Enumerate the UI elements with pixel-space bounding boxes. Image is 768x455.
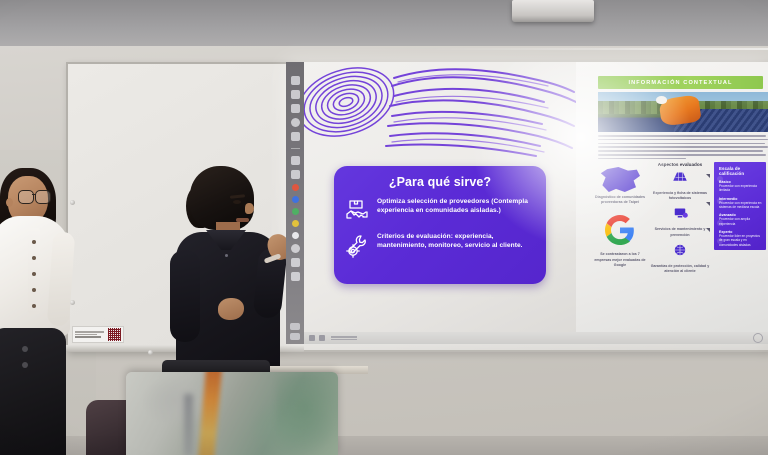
lid-pattern-green bbox=[276, 376, 338, 455]
shirt-button bbox=[32, 272, 36, 276]
search-icon[interactable] bbox=[291, 104, 300, 113]
context-banner: INFORMACIÓN CONTEXTUAL bbox=[598, 76, 763, 89]
aspect-item-2: Servicios de mantenimiento y prevención bbox=[650, 206, 710, 237]
context-left-column: Diagnóstico de comunidades proveedoras d… bbox=[594, 167, 646, 268]
aspect-item-1: Experiencia y ficha de sistemas fotovolt… bbox=[650, 170, 710, 201]
grid-icon[interactable] bbox=[291, 272, 300, 281]
presentation-bottom-bar[interactable] bbox=[304, 332, 768, 344]
rating-item-2: Intermedio Proveedor con experiencia en … bbox=[719, 197, 762, 210]
presenter-center-nose bbox=[245, 203, 254, 214]
tray-bolt bbox=[70, 200, 75, 205]
monitor-gear-icon bbox=[671, 206, 689, 220]
wrench-gear-icon bbox=[344, 233, 370, 259]
projected-screen: ¿Para qué sirve? Optimiza selección de p… bbox=[286, 62, 768, 344]
layout-button[interactable] bbox=[290, 323, 300, 330]
card-item-1: Optimiza selección de proveedores (Conte… bbox=[344, 197, 536, 224]
present-circle-icon[interactable] bbox=[753, 333, 763, 343]
rating-item-2-text: Proveedor con experiencia en sistemas de… bbox=[719, 201, 762, 210]
laptop-lid bbox=[126, 372, 338, 455]
rating-item-1: Básico Proveedor con experiencia limitad… bbox=[719, 180, 762, 193]
shirt-button bbox=[32, 288, 36, 292]
presenter-center-eye bbox=[233, 200, 241, 204]
swatch-blue[interactable] bbox=[292, 196, 299, 203]
eyeglasses-icon bbox=[18, 190, 52, 203]
eraser-icon[interactable] bbox=[291, 244, 300, 253]
presenter-left-ear bbox=[6, 198, 13, 207]
purple-swirl-decoration bbox=[304, 62, 576, 166]
swatch-green[interactable] bbox=[292, 208, 299, 215]
solar-panel-icon bbox=[671, 170, 689, 184]
trouser-button bbox=[22, 346, 28, 352]
solar-installation-photo bbox=[598, 92, 768, 132]
presenter-center-left-sleeve bbox=[170, 250, 200, 342]
polo-button bbox=[225, 254, 228, 257]
rating-item-1-text: Proveedor con experiencia limitada bbox=[719, 184, 762, 193]
photo-worker-helmet bbox=[656, 96, 667, 104]
globe-grid-icon bbox=[671, 243, 689, 257]
card-item-2-text: Criterios de evaluación: experiencia, ma… bbox=[377, 232, 536, 251]
context-middle-column: Aspectos evaluados Experiencia y ficha d… bbox=[650, 162, 710, 279]
wall-seam bbox=[430, 48, 768, 50]
arrow-icon bbox=[706, 202, 710, 206]
glasses-lens-right bbox=[35, 190, 51, 204]
rating-item-4-text: Proveedor líder en proyectos de gran esc… bbox=[719, 234, 762, 247]
shirt-button bbox=[32, 256, 36, 260]
screenshot-scene: ¿Para qué sirve? Optimiza selección de p… bbox=[0, 0, 768, 455]
dock-bottom-group[interactable] bbox=[286, 323, 304, 340]
rating-item-4: Experto Proveedor líder en proyectos de … bbox=[719, 230, 762, 247]
swatch-yellow[interactable] bbox=[292, 220, 299, 227]
bottom-bar-text bbox=[331, 336, 357, 340]
aspect-item-2-text: Servicios de mantenimiento y prevención bbox=[650, 227, 710, 237]
whiteboard-sticker bbox=[72, 326, 124, 343]
notes-icon[interactable] bbox=[319, 335, 325, 341]
swatch-white[interactable] bbox=[292, 232, 299, 239]
arrow-icon bbox=[706, 174, 710, 178]
shirt-button bbox=[32, 304, 36, 308]
google-logo bbox=[605, 215, 635, 245]
google-caption: Se contrastaron a los 7 empresas mejor e… bbox=[594, 252, 646, 268]
comment-icon[interactable] bbox=[291, 118, 300, 127]
slide-thumbnail-icon[interactable] bbox=[309, 335, 315, 341]
rating-scale-panel: Escala de calificación Básico Proveedor … bbox=[714, 162, 766, 250]
qr-code-icon bbox=[108, 328, 121, 341]
sticker-text-lines bbox=[75, 331, 106, 338]
layers-icon[interactable] bbox=[291, 90, 300, 99]
glasses-lens-left bbox=[18, 190, 34, 204]
card-title: ¿Para qué sirve? bbox=[344, 176, 536, 189]
presenter-left-trousers bbox=[0, 328, 66, 455]
shirt-button bbox=[32, 240, 36, 244]
lid-pattern-grey bbox=[184, 394, 193, 455]
aspects-heading: Aspectos evaluados bbox=[650, 162, 710, 167]
slide-main[interactable]: ¿Para qué sirve? Optimiza selección de p… bbox=[304, 62, 576, 344]
headset-icon[interactable] bbox=[291, 132, 300, 141]
map-caption: Diagnóstico de comunidades proveedoras d… bbox=[594, 195, 646, 205]
tray-bolt bbox=[70, 300, 75, 305]
aspect-item-3-text: Garantías de protección, calidad y atenc… bbox=[650, 264, 710, 274]
slide-content-card: ¿Para qué sirve? Optimiza selección de p… bbox=[334, 166, 546, 284]
swatch-red[interactable] bbox=[292, 184, 299, 191]
presentation-dock[interactable] bbox=[286, 62, 304, 344]
lid-pattern-orange bbox=[198, 372, 222, 455]
card-item-2: Criterios de evaluación: experiencia, ma… bbox=[344, 232, 536, 259]
handshake-box-icon bbox=[344, 198, 370, 224]
aspect-item-3: Garantías de protección, calidad y atenc… bbox=[650, 243, 710, 274]
present-button[interactable] bbox=[290, 333, 300, 340]
screenshot-icon[interactable] bbox=[291, 258, 300, 267]
pointer-icon[interactable] bbox=[291, 156, 300, 165]
map-icon bbox=[600, 167, 640, 193]
rating-item-3: Avanzado Proveedor con amplia experienci… bbox=[719, 213, 762, 226]
dock-divider bbox=[291, 148, 300, 149]
rating-scale-title: Escala de calificación bbox=[719, 166, 762, 176]
shape-icon[interactable] bbox=[291, 170, 300, 179]
arrow-icon bbox=[706, 228, 710, 232]
card-item-1-text: Optimiza selección de proveedores (Conte… bbox=[377, 197, 536, 216]
rating-item-3-text: Proveedor con amplia experiencia bbox=[719, 217, 762, 226]
context-paragraph bbox=[598, 135, 768, 159]
trouser-button bbox=[22, 362, 28, 368]
aspect-item-1-text: Experiencia y ficha de sistemas fotovolt… bbox=[650, 191, 710, 201]
presenter-center-left-hand bbox=[218, 298, 244, 320]
home-icon[interactable] bbox=[291, 76, 300, 85]
wall-mounted-projector bbox=[512, 0, 594, 22]
tray-bolt bbox=[148, 350, 153, 355]
slide-next-preview[interactable]: INFORMACIÓN CONTEXTUAL Diagnóstico de co… bbox=[576, 62, 768, 344]
